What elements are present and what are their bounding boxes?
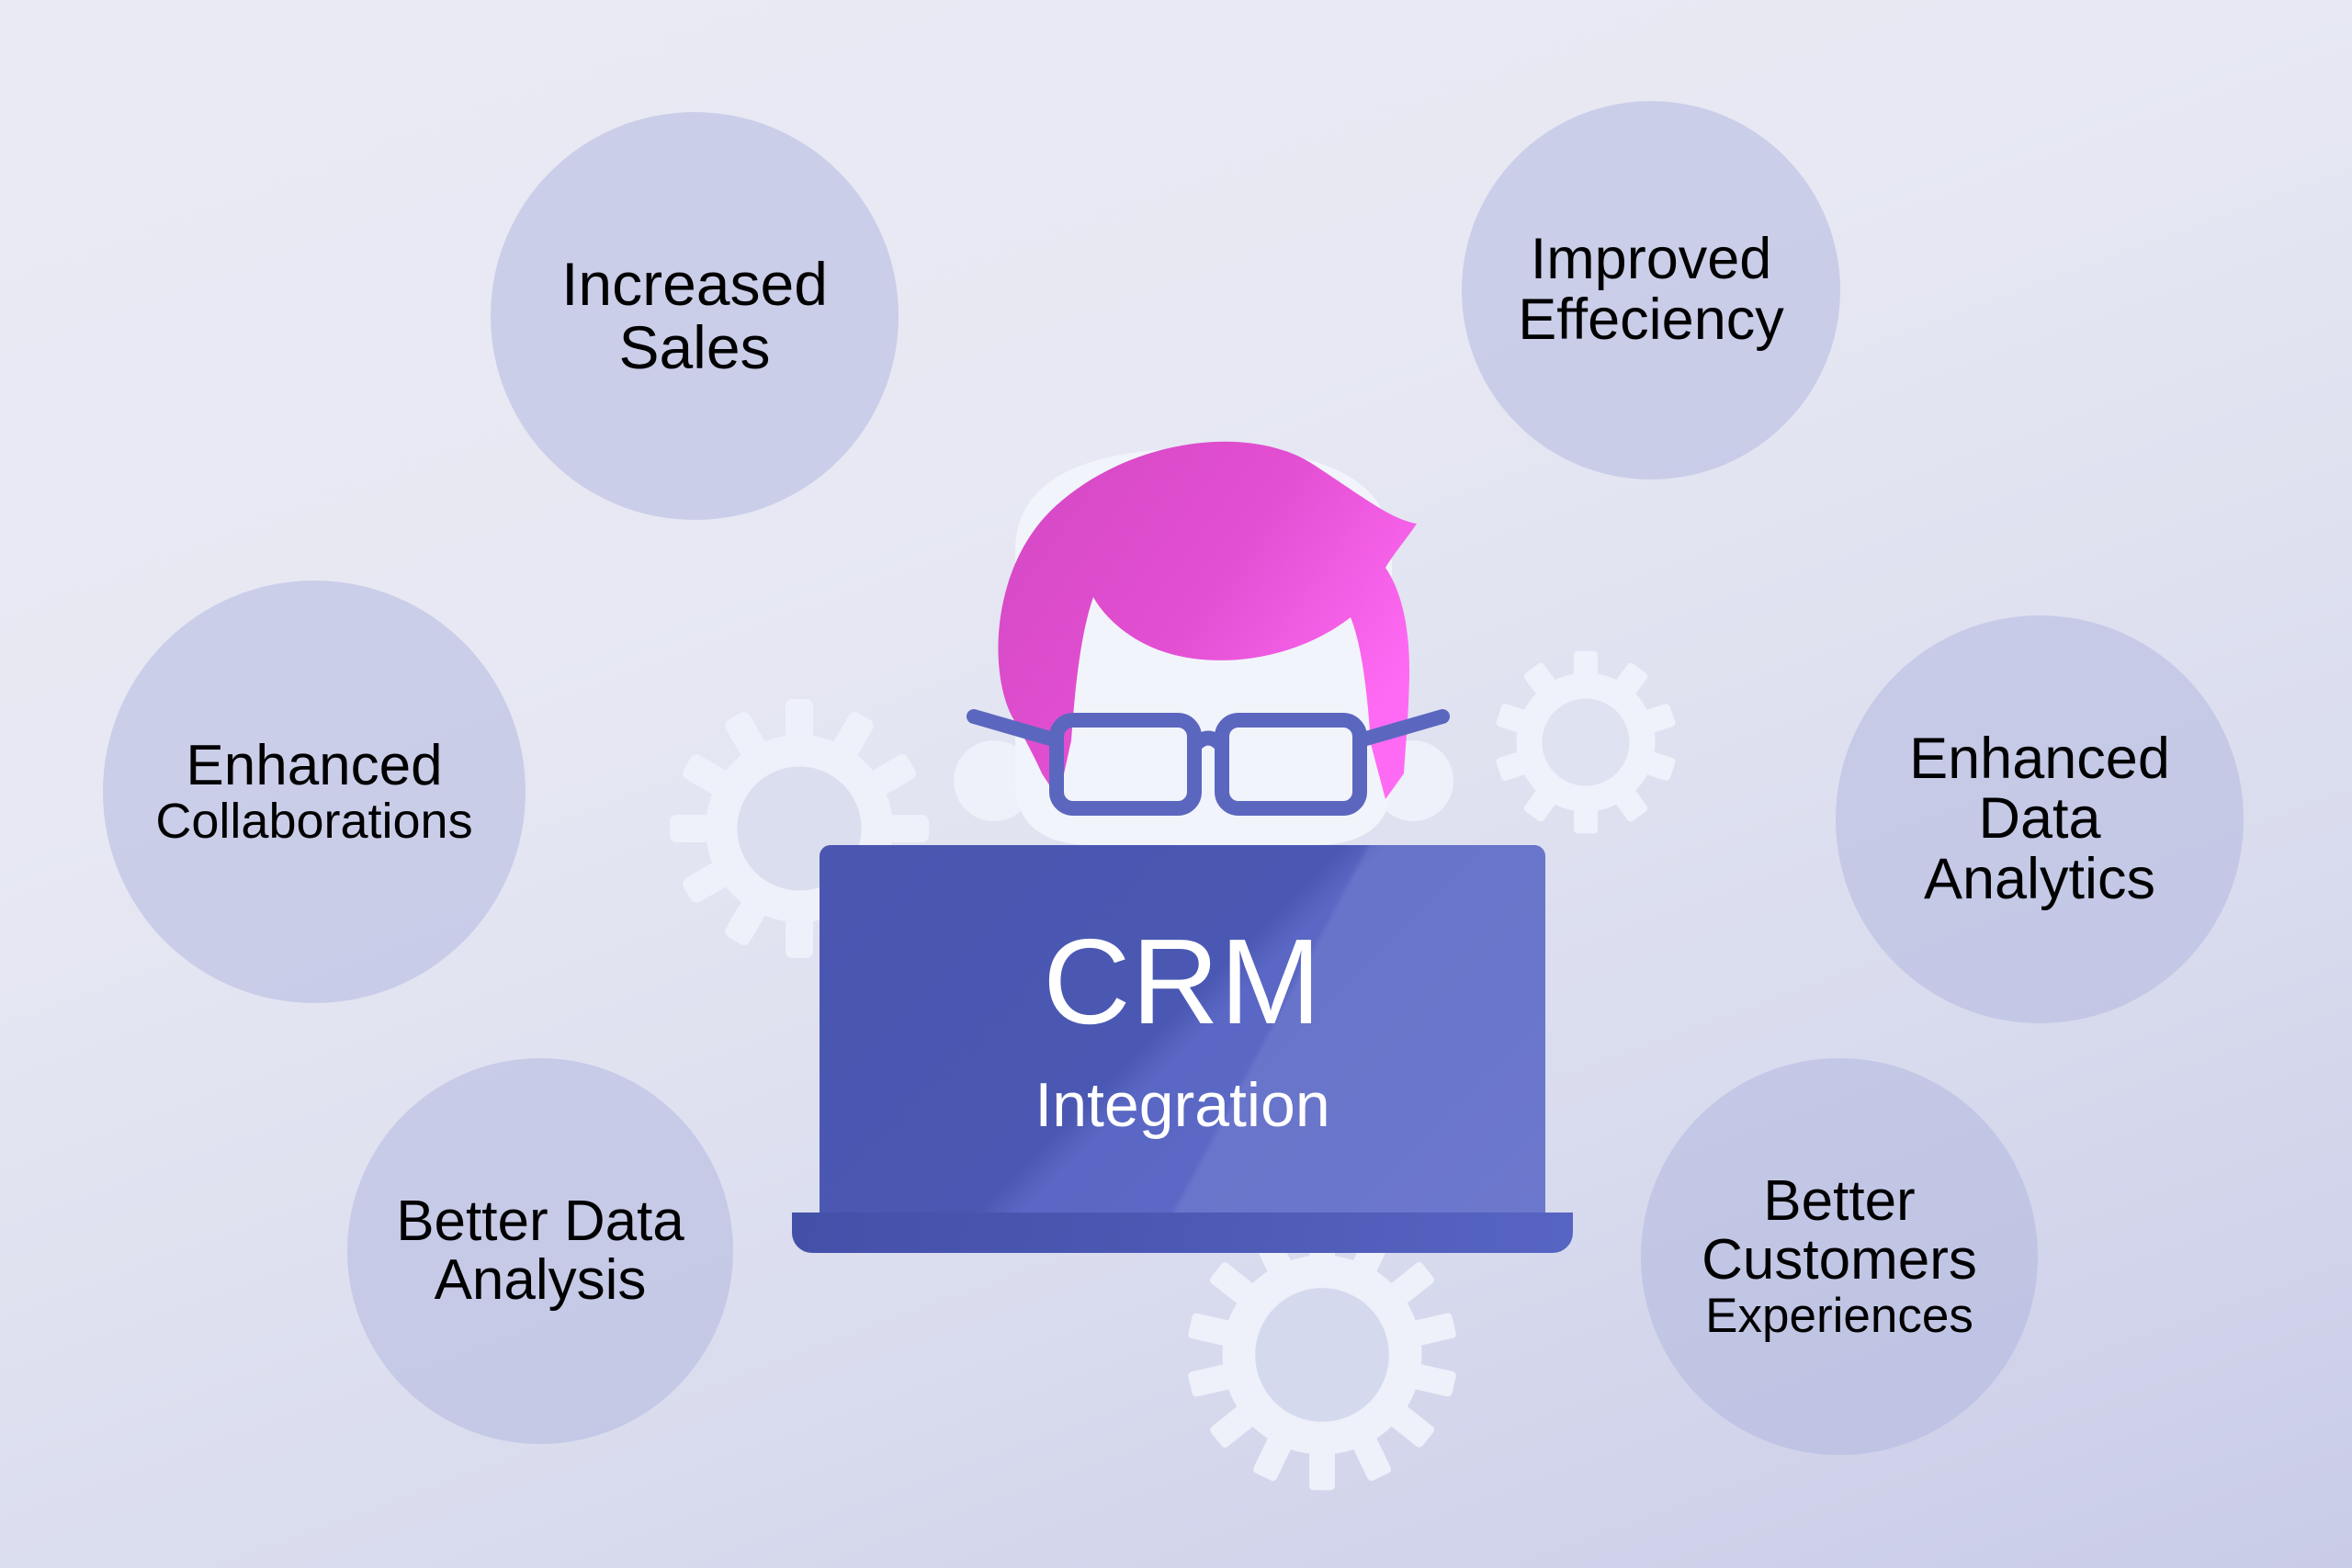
integration-subtitle: Integration xyxy=(1035,1074,1329,1136)
laptop-device: CRM Integration xyxy=(792,845,1573,1268)
benefit-line-2: Analysis xyxy=(435,1251,647,1310)
benefit-line-2: Collaborations xyxy=(155,795,472,847)
benefit-line-1: Enhanced xyxy=(1909,729,2170,790)
laptop-base xyxy=(792,1213,1573,1253)
benefit-line-1: Increased xyxy=(561,253,828,316)
benefit-line-2: Effeciency xyxy=(1518,290,1784,351)
benefit-line-2: Data xyxy=(1978,789,2100,850)
benefit-bubble-increased-sales[interactable]: Increased Sales xyxy=(491,112,899,520)
benefit-bubble-improved-efficiency[interactable]: Improved Effeciency xyxy=(1462,101,1840,479)
laptop-screen: CRM Integration xyxy=(820,845,1545,1213)
benefit-line-1: Improved xyxy=(1531,230,1772,290)
benefit-line-1: Better Data xyxy=(396,1192,684,1251)
benefit-bubble-better-customers-experiences[interactable]: Better Customers Experiences xyxy=(1641,1058,2038,1455)
benefit-bubble-enhanced-collaborations[interactable]: Enhanced Collaborations xyxy=(103,581,526,1003)
benefit-bubble-enhanced-data-analytics[interactable]: Enhanced Data Analytics xyxy=(1836,615,2244,1023)
infographic-canvas: CRM Integration Increased Sales Improved… xyxy=(0,0,2352,1568)
benefit-line-2: Customers xyxy=(1702,1231,1977,1290)
character-avatar xyxy=(946,413,1461,891)
benefit-line-3: Experiences xyxy=(1705,1291,1973,1341)
benefit-line-1: Better xyxy=(1763,1172,1915,1231)
benefit-line-2: Sales xyxy=(618,316,770,379)
gear-icon-right xyxy=(1487,643,1685,841)
benefit-bubble-better-data-analysis[interactable]: Better Data Analysis xyxy=(347,1058,733,1444)
crm-title: CRM xyxy=(1043,921,1322,1043)
laptop-screen-content: CRM Integration xyxy=(820,845,1545,1213)
benefit-line-1: Enhanced xyxy=(186,737,442,795)
benefit-line-3: Analytics xyxy=(1924,850,2155,910)
